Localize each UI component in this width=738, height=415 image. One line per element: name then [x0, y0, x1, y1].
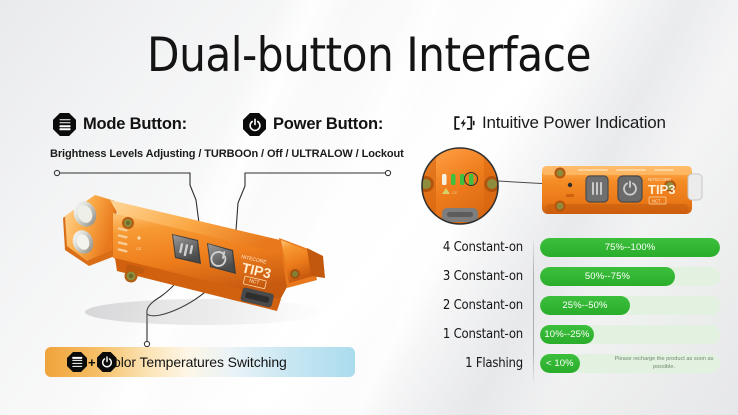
- svg-text:CE: CE: [136, 246, 142, 251]
- row-fill: 25%--50%: [540, 296, 630, 315]
- flashlight-angled-image: CE NITECORE: [55, 180, 345, 330]
- power-button-label: Power Button:: [273, 115, 383, 134]
- svg-text:NCT: NCT: [652, 199, 661, 204]
- table-row: 1 Flashing < 10% Please recharge the pro…: [425, 354, 725, 373]
- row-note: Please recharge the product as soon as p…: [612, 354, 716, 373]
- mode-button-header: Mode Button:: [53, 113, 187, 136]
- svg-text:CE: CE: [452, 190, 458, 195]
- led-1: [442, 174, 447, 185]
- power-button-header: Power Button:: [243, 113, 383, 136]
- row-range-label: 25%--50%: [562, 300, 607, 311]
- led-indicator-magnifier: CE: [420, 148, 500, 224]
- row-fill: 75%--100%: [540, 238, 720, 257]
- mode-octagon-icon: [67, 352, 87, 372]
- battery-indication-table: 4 Constant-on 75%--100% 3 Constant-on 50…: [425, 238, 725, 384]
- row-status-label: 1 Constant-on: [425, 327, 523, 342]
- row-status-label: 4 Constant-on: [425, 240, 523, 255]
- row-fill: 10%--25%: [540, 325, 594, 344]
- led-3: [460, 174, 465, 185]
- row-range-label: 10%--25%: [544, 329, 589, 340]
- row-status-label: 2 Constant-on: [425, 298, 523, 313]
- row-track: 75%--100%: [540, 238, 720, 257]
- row-fill: 50%--75%: [540, 267, 675, 286]
- page-title: Dual-button Interface: [0, 28, 738, 83]
- row-fill: < 10%: [540, 354, 580, 373]
- row-track: 10%--25%: [540, 325, 720, 344]
- power-indication-illustration: NITECORE TIP3 NCT: [420, 140, 738, 240]
- mode-button-label: Mode Button:: [83, 115, 187, 134]
- side-power-button: [618, 176, 642, 202]
- battery-bolt-icon: [453, 115, 475, 131]
- pill-label: Color Temperatures Switching: [103, 354, 287, 370]
- slide-canvas: Dual-button Interface: [0, 0, 738, 415]
- led-4: [469, 174, 474, 185]
- mode-button-subtitle: Brightness Levels Adjusting / TURBO: [50, 148, 243, 160]
- row-range-label: 75%--100%: [605, 242, 656, 253]
- row-status-label: 3 Constant-on: [425, 269, 523, 284]
- row-track: < 10% Please recharge the product as soo…: [540, 354, 720, 373]
- power-button-subtitle: On / Off / ULTRALOW / Lockout: [243, 148, 404, 160]
- table-row: 1 Constant-on 10%--25%: [425, 325, 725, 344]
- power-indication-label: Intuitive Power Indication: [482, 113, 666, 133]
- mode-octagon-icon: [53, 113, 76, 136]
- row-range-label: < 10%: [546, 358, 574, 369]
- power-octagon-icon: [243, 113, 266, 136]
- table-row: 3 Constant-on 50%--75%: [425, 267, 725, 286]
- plus-symbol: +: [88, 356, 96, 369]
- row-range-label: 50%--75%: [585, 271, 630, 282]
- power-octagon-icon: [97, 352, 117, 372]
- color-temperature-pill[interactable]: + Color Temperatures Switching: [45, 347, 355, 377]
- svg-text:TIP3: TIP3: [648, 182, 675, 197]
- pill-icon-group: +: [67, 352, 117, 372]
- table-row: 4 Constant-on 75%--100%: [425, 238, 725, 257]
- row-track: 25%--50%: [540, 296, 720, 315]
- row-status-label: 1 Flashing: [425, 356, 523, 371]
- table-row: 2 Constant-on 25%--50%: [425, 296, 725, 315]
- flashlight-side-image: NITECORE TIP3 NCT: [542, 166, 702, 214]
- power-indication-header: Intuitive Power Indication: [453, 113, 666, 133]
- row-track: 50%--75%: [540, 267, 720, 286]
- led-2: [451, 174, 456, 185]
